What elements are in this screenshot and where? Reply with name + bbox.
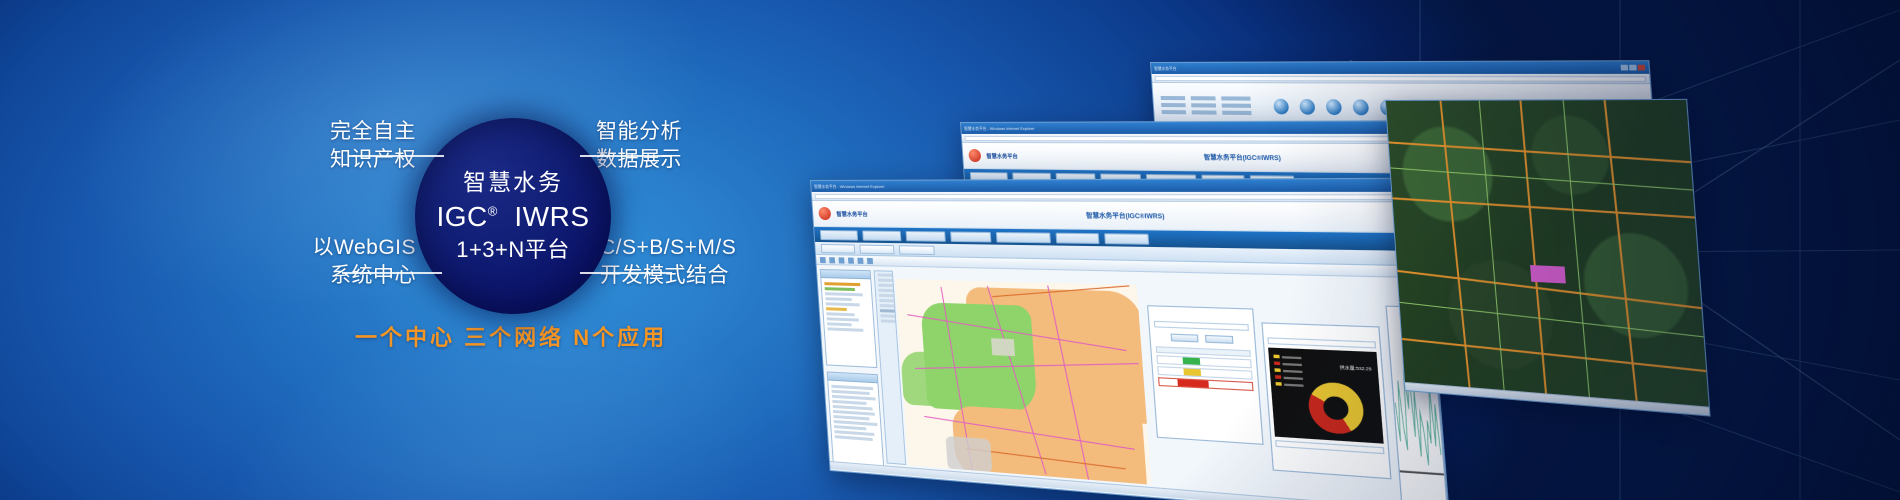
nav-tab-home[interactable] xyxy=(820,229,858,240)
print-icon[interactable] xyxy=(867,257,873,263)
dialog-query-button[interactable] xyxy=(1171,334,1199,343)
connector-bottom-left xyxy=(342,272,442,274)
layer-tree-panel[interactable] xyxy=(820,269,878,368)
label-top-left: 完全自主 知识产权 xyxy=(306,118,416,174)
pie-value-label: 供水量:532.25 xyxy=(1339,364,1371,372)
badge-iwrs: IWRS xyxy=(514,201,589,232)
supply-pie-chart xyxy=(1307,381,1366,435)
nav-tab-query[interactable] xyxy=(1055,232,1099,243)
window-back-title: 智慧水务平台 xyxy=(1154,65,1177,71)
zoom-in-icon[interactable] xyxy=(820,257,826,263)
window-back-titlebar: 智慧水务平台 xyxy=(1151,61,1649,74)
label-bottom-left: 以WebGIS 系统中心 xyxy=(280,234,416,290)
window-mid-title: 智慧水务平台 - Windows Internet Explorer xyxy=(964,125,1035,131)
globe-icon[interactable] xyxy=(1352,99,1369,115)
selection-highlight xyxy=(1530,265,1566,283)
nav-tab-pipe-monitor[interactable] xyxy=(950,231,991,242)
satellite-map-canvas[interactable] xyxy=(1386,100,1709,415)
badge-line2: IGC® IWRS xyxy=(436,202,589,233)
window-front-titlebar: 智慧水务平台 - Windows Internet Explorer xyxy=(811,179,1423,192)
label-bottom-right-line1: C/S+B/S+M/S xyxy=(600,236,736,259)
select-icon[interactable] xyxy=(848,257,854,263)
window-front-body: 供水量:532.25 xyxy=(816,255,1449,500)
globe-icon[interactable] xyxy=(1326,99,1343,115)
hero-banner: 智慧水务平台 xyxy=(0,0,1900,500)
subnav-tab-bigscreen[interactable] xyxy=(821,244,855,254)
window-mid-app-title: 智慧水务平台(IGC®IWRS) xyxy=(1204,152,1282,162)
window-front[interactable]: 智慧水务平台 - Windows Internet Explorer 智慧水务平… xyxy=(810,178,1450,500)
badge-igc: IGC xyxy=(436,201,487,232)
subnav-tab-dispatch[interactable] xyxy=(859,244,894,254)
attribute-panel[interactable] xyxy=(827,371,885,468)
label-bottom-right: C/S+B/S+M/S 开发模式结合 xyxy=(600,234,800,290)
label-bottom-left-line2: 系统中心 xyxy=(280,262,416,290)
nav-tab-video[interactable] xyxy=(996,231,1051,242)
gis-map-canvas[interactable] xyxy=(895,279,1151,485)
globe-icon[interactable] xyxy=(1299,98,1315,114)
bar-green xyxy=(1183,357,1200,364)
pressure-monitor-dialog[interactable] xyxy=(1147,305,1264,445)
address-input[interactable] xyxy=(815,193,1420,199)
badge-line1: 智慧水务 xyxy=(463,170,563,195)
center-badge: 智慧水务 IGC® IWRS 1+3+N平台 xyxy=(415,118,611,314)
nav-tab-revenue[interactable] xyxy=(906,230,946,241)
window-satellite-map[interactable] xyxy=(1385,99,1711,417)
badge-line3: 1+3+N平台 xyxy=(456,238,570,262)
window-front-brand: 智慧水务平台 xyxy=(836,210,868,218)
supply-pie-panel[interactable]: 供水量:532.25 xyxy=(1261,322,1391,479)
nav-tab-basic-info[interactable] xyxy=(862,230,901,241)
label-top-left-line2: 知识产权 xyxy=(306,146,416,174)
nav-tab-settings[interactable] xyxy=(1104,233,1149,245)
screenshot-stack: 智慧水务平台 xyxy=(800,40,1900,470)
connector-top-left xyxy=(348,155,444,157)
app-logo-icon xyxy=(818,207,831,220)
pie-legend xyxy=(1273,355,1303,387)
window-front-app-title: 智慧水务平台(IGC®IWRS) xyxy=(1086,210,1165,220)
subnav-tab-analysis[interactable] xyxy=(899,245,935,255)
globe-icon[interactable] xyxy=(1273,98,1289,114)
label-top-right: 智能分析 数据展示 xyxy=(596,118,776,174)
connector-top-right xyxy=(580,155,672,157)
connector-bottom-right xyxy=(580,272,672,274)
registered-mark-icon: ® xyxy=(488,204,498,219)
window-controls[interactable] xyxy=(1621,65,1646,71)
label-top-left-line1: 完全自主 xyxy=(330,120,416,143)
window-mid-brand: 智慧水务平台 xyxy=(986,152,1018,160)
address-input[interactable] xyxy=(1155,75,1647,81)
app-logo-icon xyxy=(968,149,981,162)
bar-red xyxy=(1177,379,1209,387)
tagline: 一个中心 三个网络 N个应用 xyxy=(355,320,667,352)
measure-icon[interactable] xyxy=(857,257,863,263)
zoom-out-icon[interactable] xyxy=(829,257,835,263)
label-top-right-line1: 智能分析 xyxy=(596,120,682,143)
dialog-reset-button[interactable] xyxy=(1205,335,1234,344)
bar-yellow xyxy=(1184,369,1201,377)
pressure-bar-table xyxy=(1156,346,1254,391)
label-bottom-left-line1: 以WebGIS xyxy=(313,236,416,259)
label-bottom-right-line2: 开发模式结合 xyxy=(600,262,800,290)
label-top-right-line2: 数据展示 xyxy=(596,146,776,174)
window-front-title: 智慧水务平台 - Windows Internet Explorer xyxy=(814,183,885,189)
pan-icon[interactable] xyxy=(838,257,844,263)
